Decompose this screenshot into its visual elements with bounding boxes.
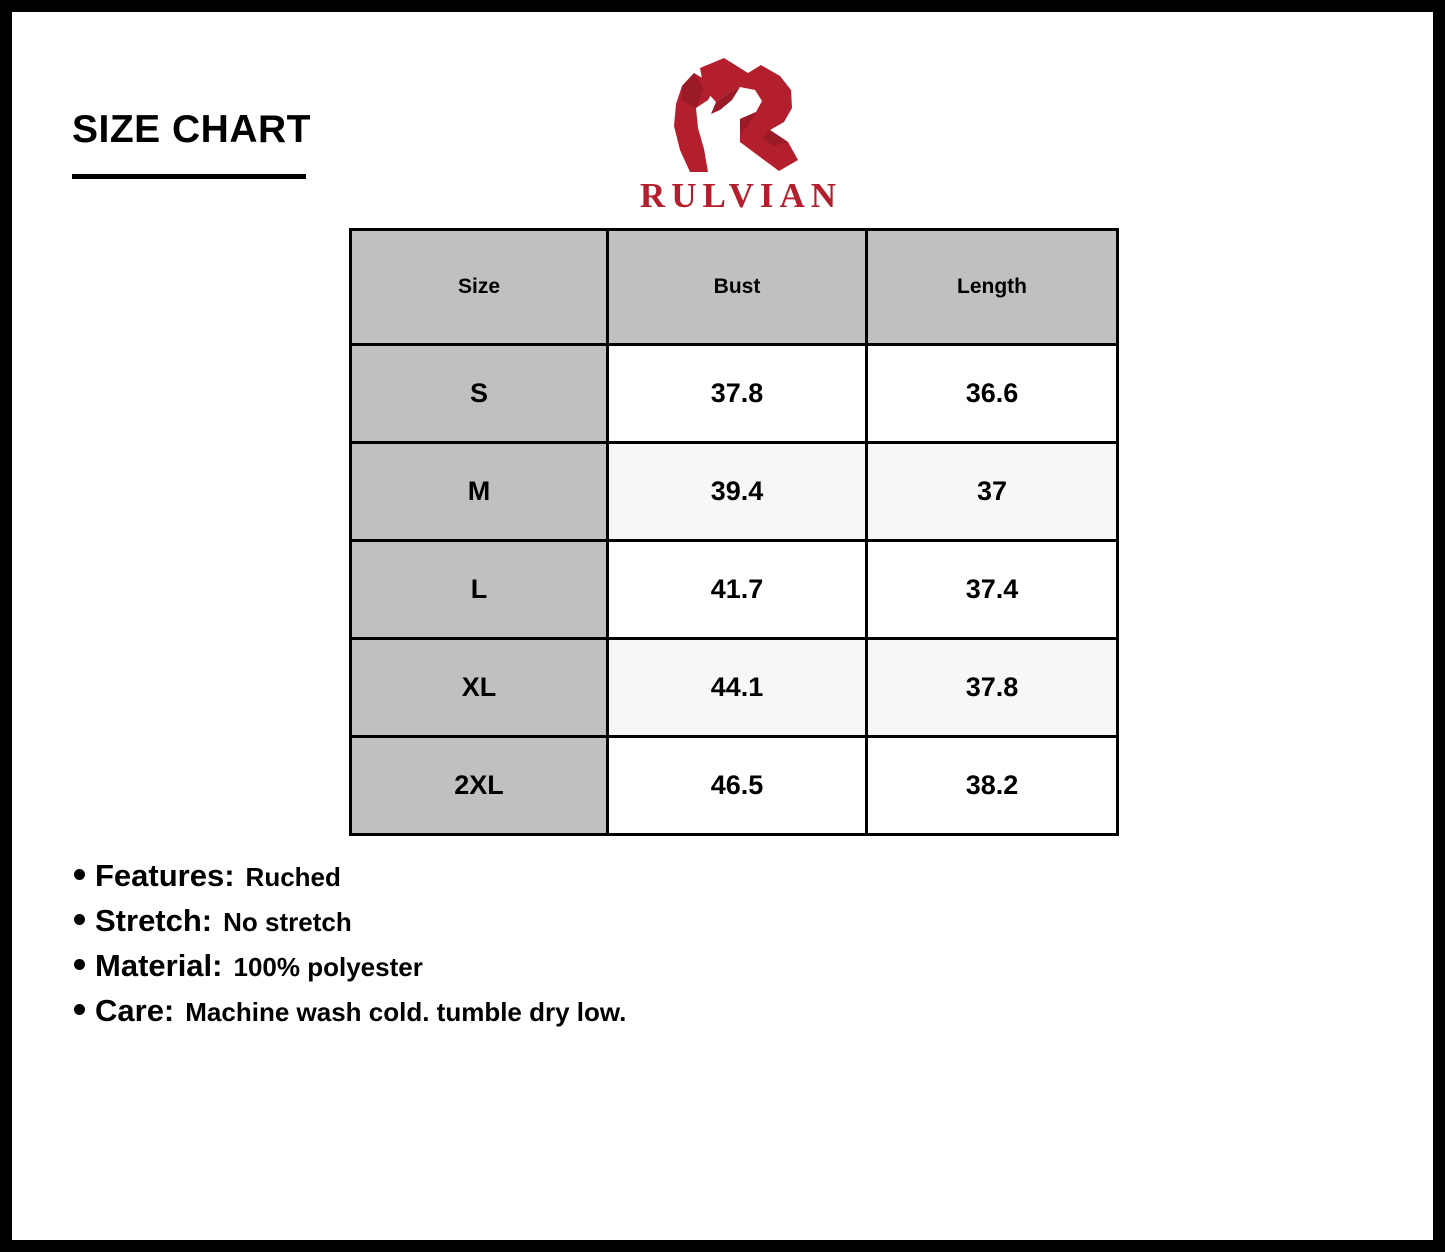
bullet-dot-icon — [74, 959, 85, 970]
page-title-block: SIZE CHART — [72, 110, 311, 179]
table-header-row: Size Bust Length — [351, 230, 1118, 345]
title-underline-rule — [72, 174, 306, 179]
cell-bust: 39.4 — [608, 443, 867, 541]
spec-value: No stretch — [223, 909, 352, 935]
column-header-size: Size — [351, 230, 608, 345]
table-row: S 37.8 36.6 — [351, 345, 1118, 443]
cell-bust: 37.8 — [608, 345, 867, 443]
size-chart-table: Size Bust Length S 37.8 36.6 M 39.4 37 L — [349, 228, 1119, 836]
brand-logo: RULVIAN — [612, 56, 864, 213]
cell-size: S — [351, 345, 608, 443]
bullet-dot-icon — [74, 1004, 85, 1015]
list-item: Care: Machine wash cold. tumble dry low. — [74, 995, 626, 1026]
list-item: Material: 100% polyester — [74, 950, 626, 981]
cell-bust: 41.7 — [608, 541, 867, 639]
cell-length: 36.6 — [867, 345, 1118, 443]
spec-value: Machine wash cold. tumble dry low. — [185, 999, 626, 1025]
cell-length: 37.8 — [867, 639, 1118, 737]
cell-length: 38.2 — [867, 737, 1118, 835]
cell-size: XL — [351, 639, 608, 737]
spec-label: Material: — [95, 950, 222, 981]
spec-label: Care: — [95, 995, 174, 1026]
spec-label: Stretch: — [95, 905, 212, 936]
cell-size: L — [351, 541, 608, 639]
brand-wordmark: RULVIAN — [612, 178, 864, 213]
bullet-dot-icon — [74, 914, 85, 925]
list-item: Features: Ruched — [74, 860, 626, 891]
cell-length: 37.4 — [867, 541, 1118, 639]
rulvian-r-monogram-icon — [612, 56, 864, 174]
cell-size: M — [351, 443, 608, 541]
list-item: Stretch: No stretch — [74, 905, 626, 936]
column-header-bust: Bust — [608, 230, 867, 345]
product-spec-list: Features: Ruched Stretch: No stretch Mat… — [74, 860, 626, 1040]
cell-length: 37 — [867, 443, 1118, 541]
bullet-dot-icon — [74, 869, 85, 880]
spec-value: 100% polyester — [233, 954, 422, 980]
table-row: XL 44.1 37.8 — [351, 639, 1118, 737]
table-row: M 39.4 37 — [351, 443, 1118, 541]
poster-canvas: SIZE CHART RULVIAN — [12, 12, 1433, 1240]
table-row: 2XL 46.5 38.2 — [351, 737, 1118, 835]
page-title: SIZE CHART — [72, 110, 311, 149]
cell-size: 2XL — [351, 737, 608, 835]
spec-value: Ruched — [246, 864, 341, 890]
spec-label: Features: — [95, 860, 235, 891]
cell-bust: 44.1 — [608, 639, 867, 737]
column-header-length: Length — [867, 230, 1118, 345]
cell-bust: 46.5 — [608, 737, 867, 835]
table-row: L 41.7 37.4 — [351, 541, 1118, 639]
poster-frame: SIZE CHART RULVIAN — [0, 0, 1445, 1252]
